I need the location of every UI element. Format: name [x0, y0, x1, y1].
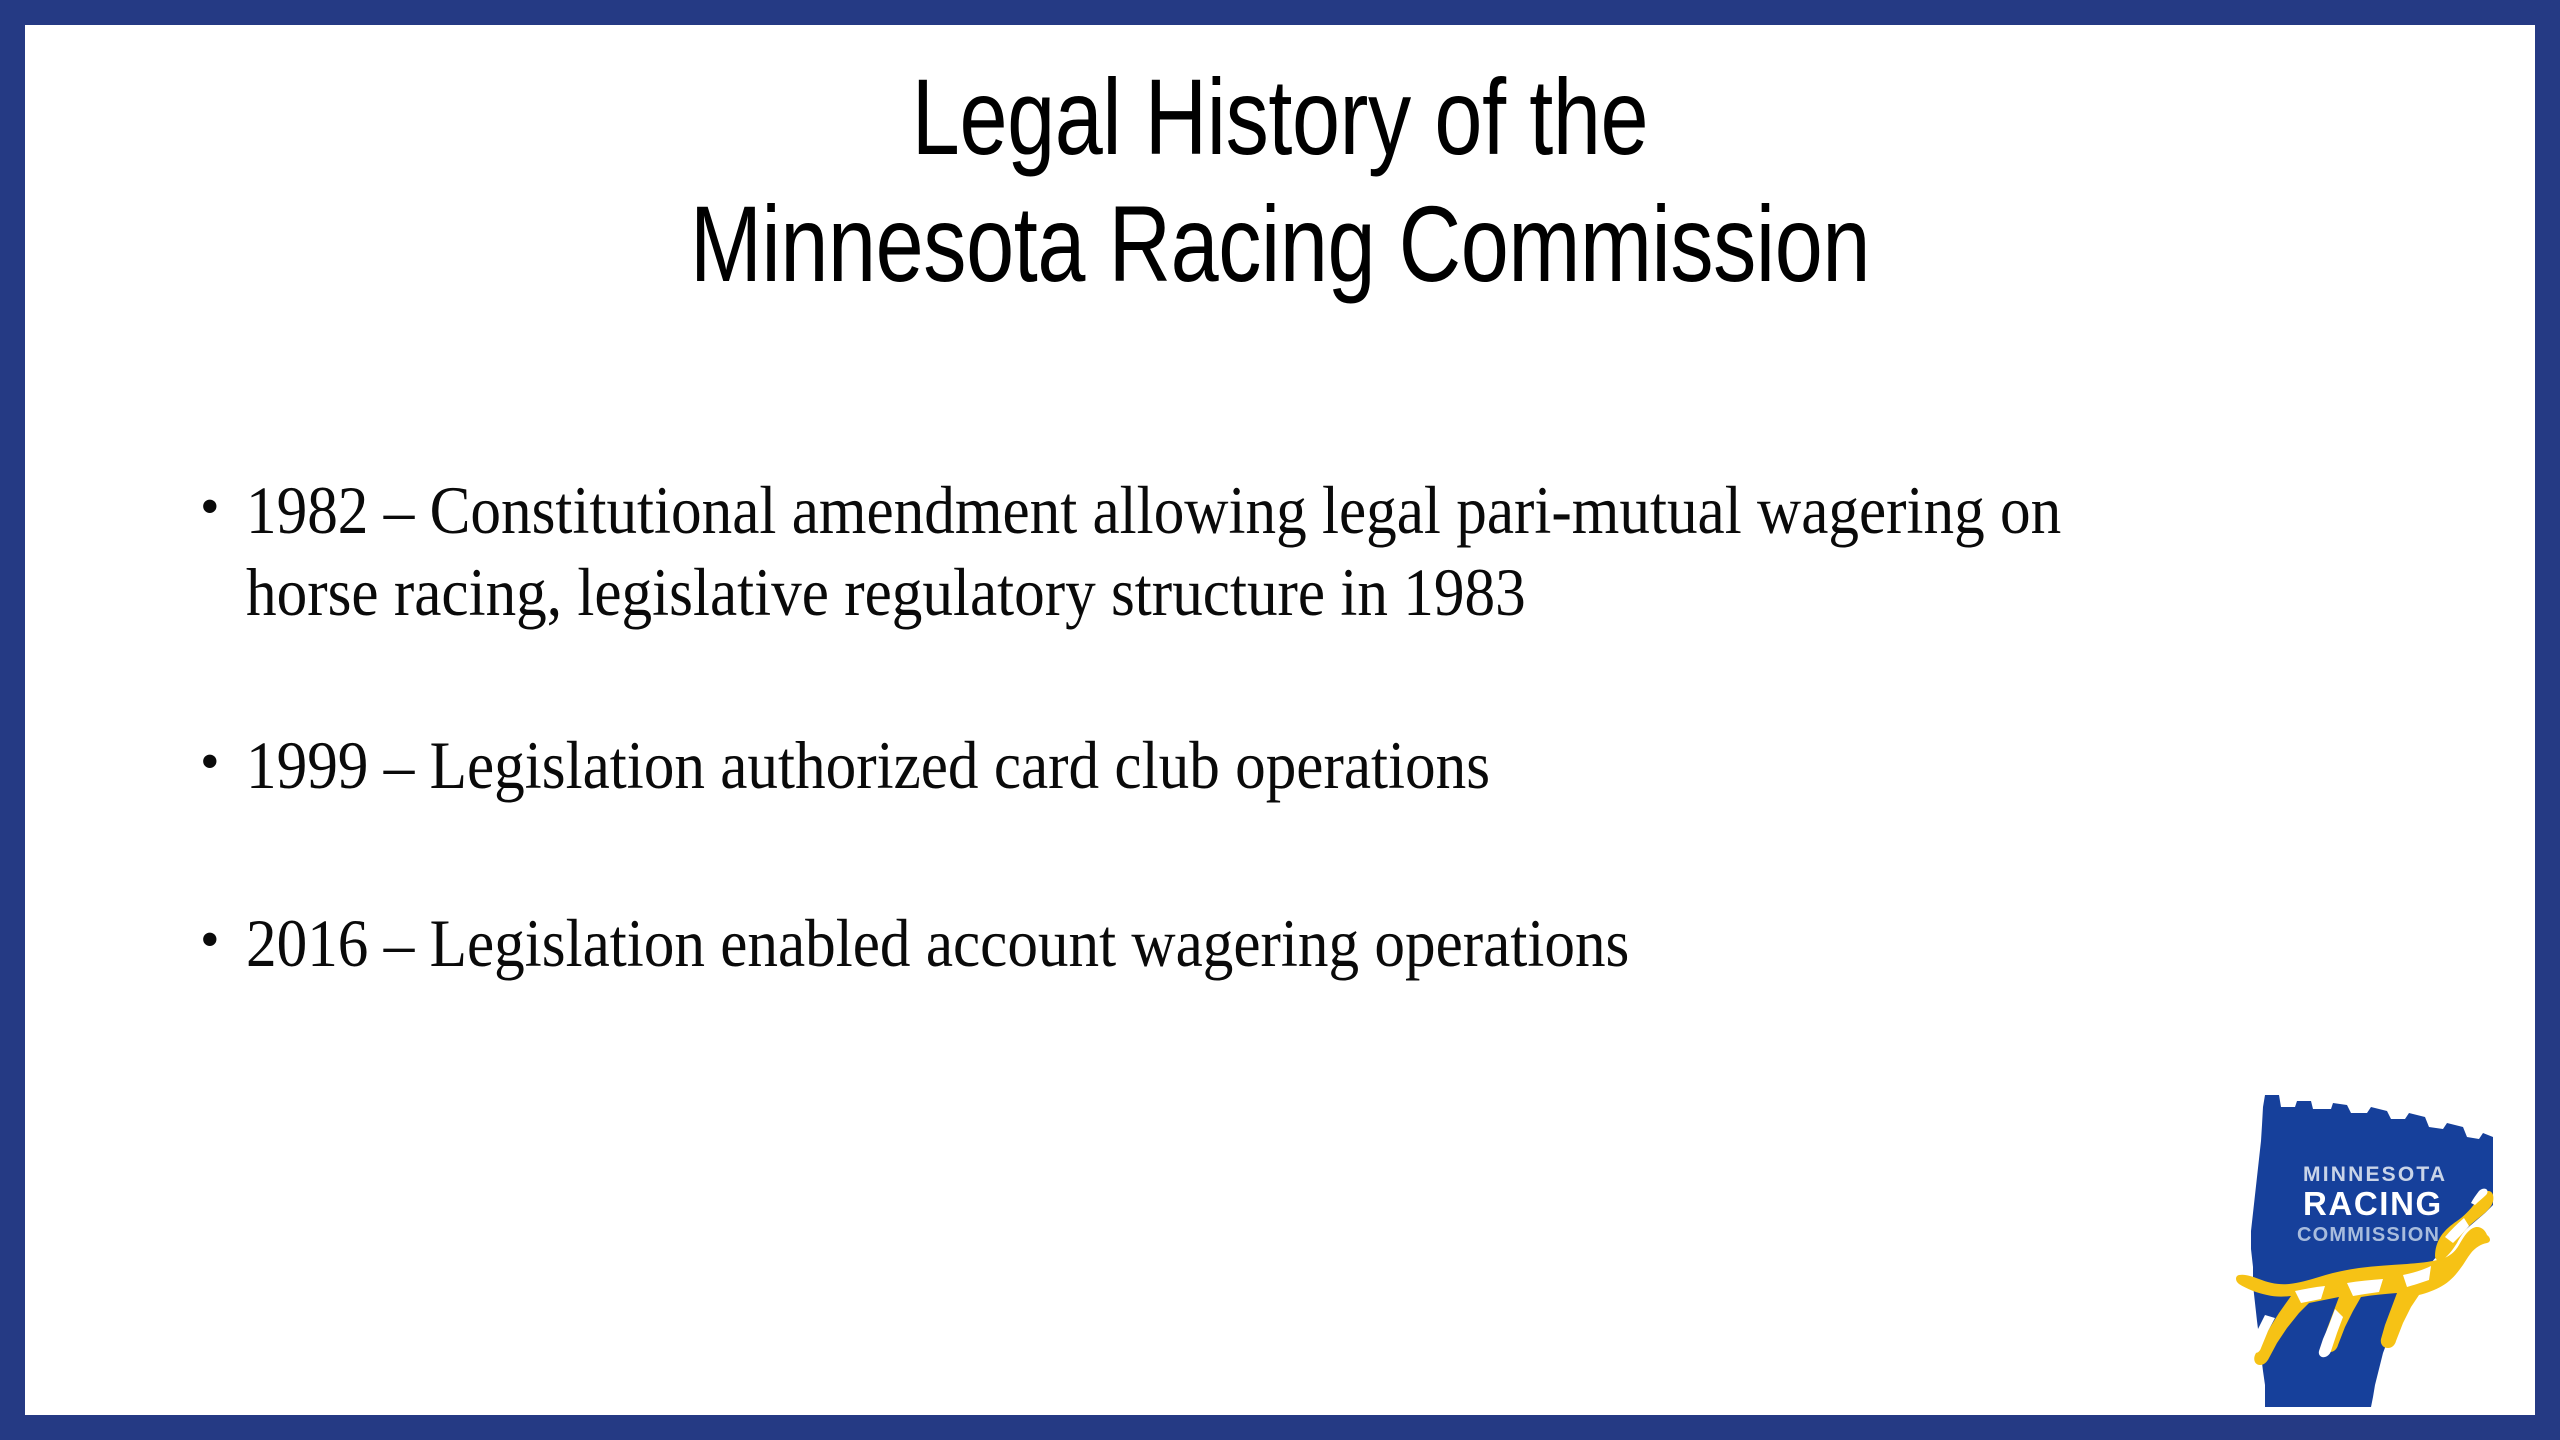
slide-frame: Legal History of the Minnesota Racing Co… — [0, 0, 2560, 1440]
title-line-1: Legal History of the — [276, 53, 2284, 180]
list-item: • 2016 – Legislation enabled account wag… — [200, 903, 2380, 985]
minnesota-racing-commission-logo: MINNESOTA RACING COMMISSION — [2235, 1085, 2495, 1415]
logo-word-commission: COMMISSION — [2297, 1224, 2440, 1246]
page-title: Legal History of the Minnesota Racing Co… — [276, 53, 2284, 308]
slide-content-area: Legal History of the Minnesota Racing Co… — [25, 25, 2535, 1415]
bullet-marker-icon: • — [200, 903, 246, 978]
logo-word-racing: RACING — [2303, 1185, 2443, 1222]
list-item: • 1999 – Legislation authorized card clu… — [200, 725, 2380, 807]
bullet-text-1982: 1982 – Constitutional amendment allowing… — [246, 470, 2167, 633]
list-item: • 1982 – Constitutional amendment allowi… — [200, 470, 2380, 633]
title-line-2: Minnesota Racing Commission — [276, 180, 2284, 307]
bullet-text-2016: 2016 – Legislation enabled account wager… — [246, 903, 2167, 985]
bullet-list: • 1982 – Constitutional amendment allowi… — [200, 470, 2380, 984]
logo-word-minnesota: MINNESOTA — [2303, 1163, 2447, 1186]
bullet-marker-icon: • — [200, 725, 246, 800]
bullet-marker-icon: • — [200, 470, 246, 545]
bullet-text-1999: 1999 – Legislation authorized card club … — [246, 725, 2167, 807]
